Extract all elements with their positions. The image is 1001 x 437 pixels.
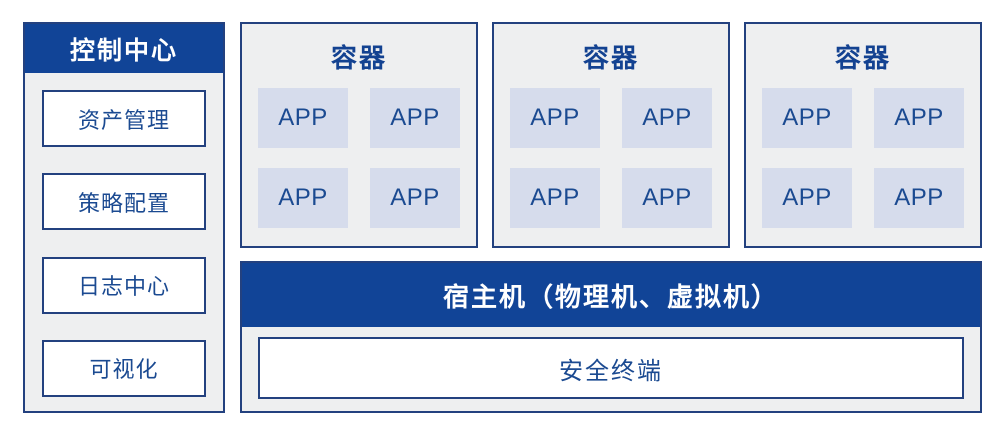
- sidebar-item-visualization[interactable]: 可视化: [42, 340, 206, 397]
- app-label: APP: [782, 184, 832, 212]
- app-box[interactable]: APP: [622, 168, 712, 228]
- containers-row: 容器 APP APP APP APP 容器 APP: [240, 22, 982, 248]
- app-label: APP: [894, 104, 944, 132]
- app-box[interactable]: APP: [874, 88, 964, 148]
- app-box[interactable]: APP: [762, 168, 852, 228]
- app-grid: APP APP APP APP: [494, 88, 728, 228]
- app-label: APP: [278, 104, 328, 132]
- app-label: APP: [642, 184, 692, 212]
- container-title: 容器: [494, 38, 728, 75]
- app-box[interactable]: APP: [370, 88, 460, 148]
- app-label: APP: [390, 184, 440, 212]
- sidebar-item-label: 日志中心: [78, 269, 170, 301]
- security-terminal-label: 安全终端: [559, 351, 663, 386]
- app-label: APP: [894, 184, 944, 212]
- app-box[interactable]: APP: [874, 168, 964, 228]
- app-box[interactable]: APP: [510, 168, 600, 228]
- app-label: APP: [278, 184, 328, 212]
- sidebar-item-label: 可视化: [89, 352, 158, 384]
- sidebar-item-policy-config[interactable]: 策略配置: [42, 173, 206, 230]
- container-panel-2: 容器 APP APP APP APP: [492, 22, 730, 248]
- container-title: 容器: [242, 38, 476, 75]
- sidebar-item-label: 资产管理: [78, 103, 170, 135]
- host-panel-body: 安全终端: [242, 327, 980, 411]
- sidebar-item-log-center[interactable]: 日志中心: [42, 257, 206, 314]
- sidebar-item-asset-management[interactable]: 资产管理: [42, 90, 206, 147]
- app-label: APP: [642, 104, 692, 132]
- control-center-item-list: 资产管理 策略配置 日志中心 可视化: [25, 73, 223, 411]
- app-label: APP: [782, 104, 832, 132]
- app-box[interactable]: APP: [622, 88, 712, 148]
- container-title: 容器: [746, 38, 980, 75]
- app-box[interactable]: APP: [258, 88, 348, 148]
- host-panel-header: 宿主机（物理机、虚拟机）: [242, 263, 980, 327]
- container-panel-1: 容器 APP APP APP APP: [240, 22, 478, 248]
- sidebar-item-label: 策略配置: [78, 186, 170, 218]
- architecture-diagram: 控制中心 资产管理 策略配置 日志中心 可视化 容器 APP: [0, 0, 1001, 437]
- app-label: APP: [530, 184, 580, 212]
- container-panel-3: 容器 APP APP APP APP: [744, 22, 982, 248]
- app-grid: APP APP APP APP: [242, 88, 476, 228]
- app-label: APP: [390, 104, 440, 132]
- app-box[interactable]: APP: [762, 88, 852, 148]
- app-box[interactable]: APP: [510, 88, 600, 148]
- app-box[interactable]: APP: [258, 168, 348, 228]
- app-box[interactable]: APP: [370, 168, 460, 228]
- control-center-panel: 控制中心 资产管理 策略配置 日志中心 可视化: [23, 22, 225, 413]
- app-label: APP: [530, 104, 580, 132]
- security-terminal-box[interactable]: 安全终端: [258, 337, 964, 399]
- host-panel: 宿主机（物理机、虚拟机） 安全终端: [240, 261, 982, 413]
- app-grid: APP APP APP APP: [746, 88, 980, 228]
- control-center-header: 控制中心: [25, 24, 223, 73]
